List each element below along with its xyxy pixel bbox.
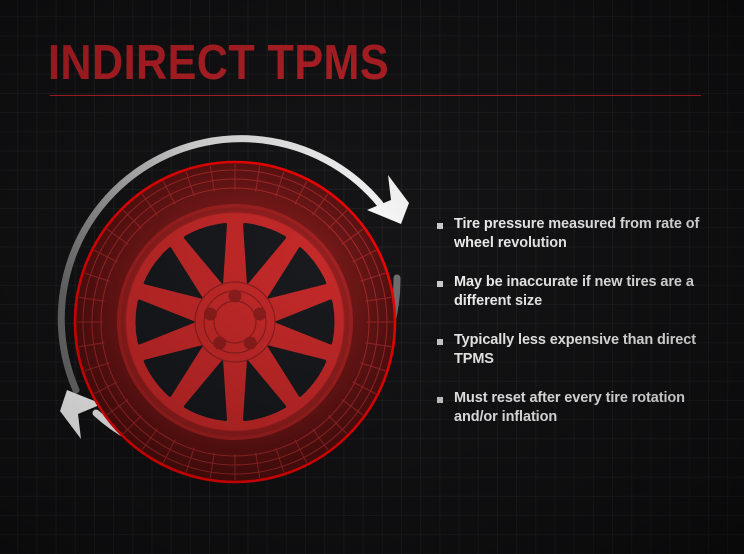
list-item: Must reset after every tire rotation and… — [437, 389, 705, 427]
title-underline-rule — [50, 95, 701, 96]
list-item-label: Must reset after every tire rotation and… — [454, 389, 705, 427]
list-item: May be inaccurate if new tires are a dif… — [437, 273, 705, 311]
list-item: Tire pressure measured from rate of whee… — [437, 215, 705, 253]
list-item-label: Typically less expensive than direct TPM… — [454, 331, 705, 369]
list-item-label: Tire pressure measured from rate of whee… — [454, 215, 705, 253]
bullet-list: Tire pressure measured from rate of whee… — [437, 215, 705, 427]
slide-canvas: INDIRECT TPMS — [0, 0, 744, 554]
wheel-rim — [117, 204, 353, 440]
rotating-tire-wheel-illustration — [52, 132, 424, 516]
list-item: Typically less expensive than direct TPM… — [437, 331, 705, 369]
square-bullet-icon — [437, 397, 443, 403]
page-title: INDIRECT TPMS — [48, 37, 389, 89]
list-item-label: May be inaccurate if new tires are a dif… — [454, 273, 705, 311]
square-bullet-icon — [437, 339, 443, 345]
square-bullet-icon — [437, 281, 443, 287]
square-bullet-icon — [437, 223, 443, 229]
